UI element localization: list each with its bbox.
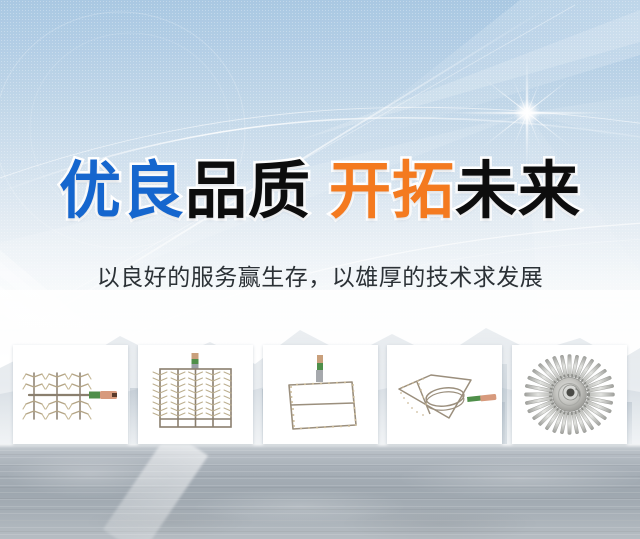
headline-part-2: 品质	[185, 160, 311, 222]
two-tier-rectangular-frame-icon	[263, 345, 378, 444]
ground-surface	[0, 444, 640, 539]
headline-part-3: 开拓	[329, 160, 455, 222]
product-card-1[interactable]: 梳齿式挂具	[13, 345, 128, 444]
page-title: 优良品质开拓未来	[0, 160, 640, 222]
flat-frame-with-ring-icon	[387, 345, 502, 444]
ground-streaks	[0, 444, 640, 539]
promo-banner: 优良品质开拓未来 以良好的服务赢生存，以雄厚的技术求发展 梳齿式挂具	[0, 0, 640, 539]
subtitle: 以良好的服务赢生存，以雄厚的技术求发展	[0, 258, 640, 292]
dense-spike-frame-rack-icon	[138, 345, 253, 444]
comb-rack-three-branch-icon	[13, 345, 128, 444]
product-card-5[interactable]: 放射状轮毂挂具	[512, 345, 627, 444]
headline-part-1: 优良	[59, 160, 185, 222]
product-card-strip: 梳齿式挂具	[13, 345, 627, 445]
product-card-4[interactable]: 平板圆环挂具	[387, 345, 502, 444]
headline-part-4: 未来	[455, 160, 581, 222]
product-card-2[interactable]: 密齿框式挂具	[138, 345, 253, 444]
product-card-3[interactable]: 双层方框挂具	[263, 345, 378, 444]
radial-spoke-hub-icon	[512, 345, 627, 444]
